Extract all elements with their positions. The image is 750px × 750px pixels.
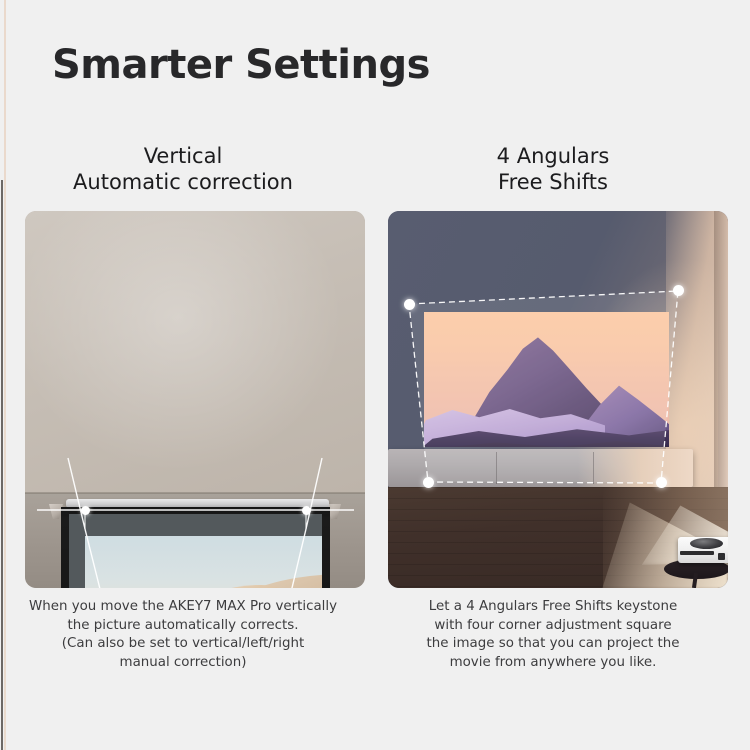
wall-surface xyxy=(25,211,365,493)
projector-front-panel xyxy=(680,551,714,555)
console-seam-2 xyxy=(593,452,594,484)
caption-line-1: Let a 4 Angulars Free Shifts keystone xyxy=(370,598,736,617)
subtitle-vertical: Vertical Automatic correction xyxy=(0,143,366,195)
media-console-lit xyxy=(578,449,693,487)
subtitle-line-1: 4 Angulars xyxy=(370,143,736,169)
corner-handle-bottom-right[interactable] xyxy=(656,477,667,488)
projected-desert-image xyxy=(85,536,322,588)
caption-four-angulars: Let a 4 Angulars Free Shifts keystone wi… xyxy=(370,598,736,672)
wall-corner-edge xyxy=(714,211,728,492)
page-root: Smarter Settings Vertical Automatic corr… xyxy=(0,0,750,750)
caption-line-4: manual correction) xyxy=(0,654,366,673)
projector-port xyxy=(718,553,725,560)
four-corner-keystone-photo xyxy=(388,211,728,588)
subtitle-line-1: Vertical xyxy=(0,143,366,169)
subtitle-line-2: Automatic correction xyxy=(0,169,366,195)
caption-line-2: the picture automatically corrects. xyxy=(0,617,366,636)
projected-mountain-image xyxy=(424,312,669,447)
projector-device xyxy=(678,537,728,563)
corner-handle-bottom-left[interactable] xyxy=(423,477,434,488)
keystone-handle-top-right[interactable] xyxy=(302,506,311,515)
corner-handle-top-right[interactable] xyxy=(673,285,684,296)
console-seam-1 xyxy=(496,452,497,484)
caption-vertical: When you move the AKEY7 MAX Pro vertical… xyxy=(0,598,366,672)
wall-floor-seam xyxy=(25,492,365,494)
caption-line-4: movie from anywhere you like. xyxy=(370,654,736,673)
caption-line-1: When you move the AKEY7 MAX Pro vertical… xyxy=(0,598,366,617)
caption-line-3: (Can also be set to vertical/left/right xyxy=(0,635,366,654)
keystone-handle-top-left[interactable] xyxy=(81,506,90,515)
subtitle-four-angulars: 4 Angulars Free Shifts xyxy=(370,143,736,195)
subtitle-line-2: Free Shifts xyxy=(370,169,736,195)
projector-lens-icon xyxy=(690,538,723,549)
caption-line-3: the image so that you can project the xyxy=(370,635,736,654)
caption-line-2: with four corner adjustment square xyxy=(370,617,736,636)
corner-handle-top-left[interactable] xyxy=(404,299,415,310)
vertical-keystone-photo xyxy=(25,211,365,588)
